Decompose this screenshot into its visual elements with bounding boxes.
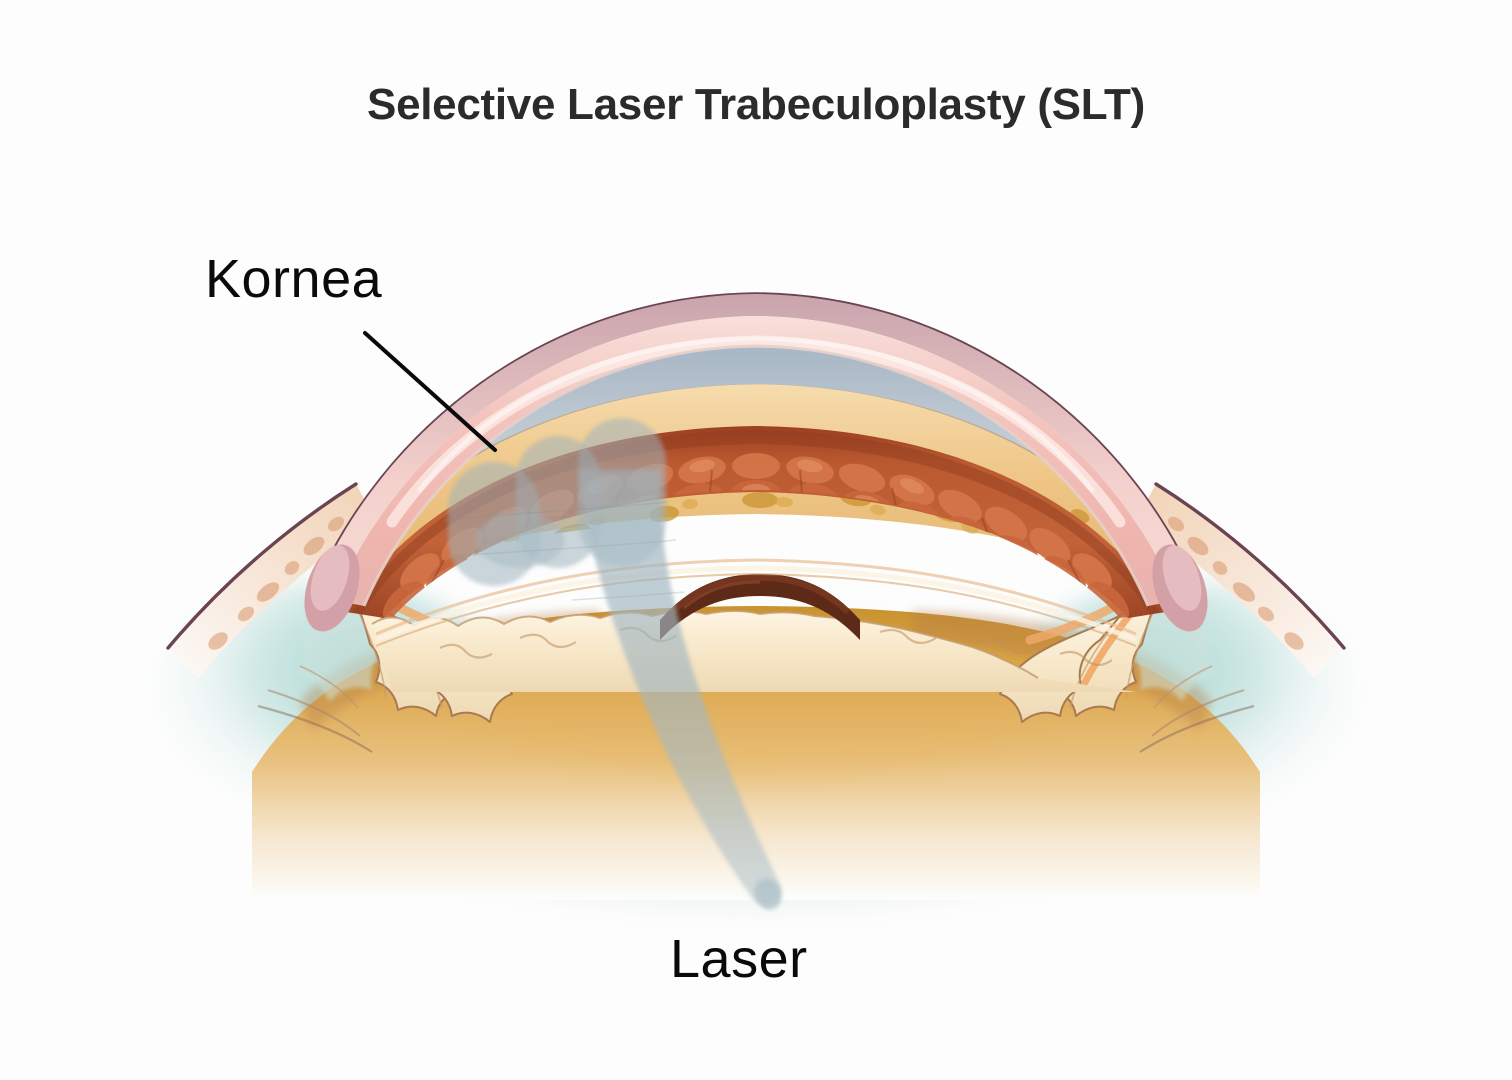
annotation-label-laser: Laser xyxy=(670,928,808,990)
illustration-canvas: Selective Laser Trabeculoplasty (SLT) Ko… xyxy=(0,0,1512,1080)
page-title: Selective Laser Trabeculoplasty (SLT) xyxy=(0,80,1512,130)
eye-cross-section-diagram xyxy=(0,0,1512,1080)
annotation-label-kornea: Kornea xyxy=(205,248,382,310)
laser-lobe-bridge xyxy=(476,512,564,568)
